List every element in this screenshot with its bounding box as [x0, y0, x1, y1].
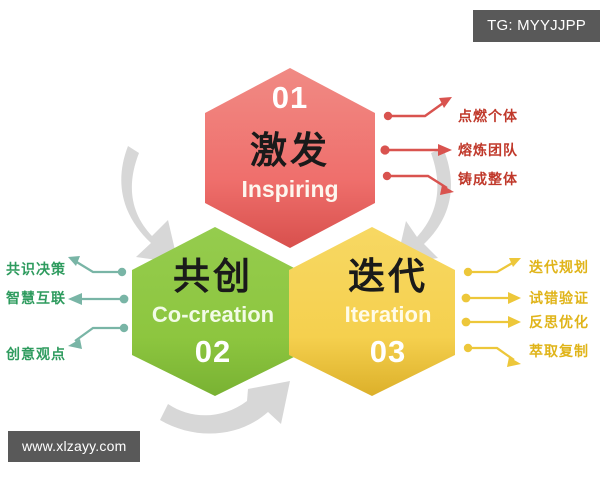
connector-green-2-dot — [120, 295, 129, 304]
connector-green-3 — [75, 328, 122, 341]
connector-yellow-2-arrowhead — [508, 292, 521, 304]
tg-watermark-badge: TG: MYYJJPP — [473, 10, 600, 42]
label-yellow-4: 萃取复制 — [529, 345, 589, 359]
label-red-2: 熔炼团队 — [458, 144, 518, 158]
connector-red-2-dot — [380, 145, 389, 154]
connector-yellow-1-dot — [464, 268, 472, 276]
connector-green-1-arrowhead — [68, 256, 80, 266]
infographic-canvas: 01 激发 Inspiring 共创 Co-creation 02 迭代 Ite… — [0, 0, 600, 480]
hexagon-inspiring[interactable] — [205, 68, 375, 248]
label-green-3: 创意观点 — [6, 348, 66, 362]
hexagon-inspiring-shape[interactable] — [205, 68, 375, 248]
label-red-3: 铸成整体 — [458, 173, 518, 187]
connector-green-3-dot — [120, 324, 128, 332]
label-red-1: 点燃个体 — [458, 110, 518, 124]
cycle-arrow-left — [121, 146, 178, 263]
connector-group-green — [68, 256, 128, 349]
connector-yellow-4-dot — [464, 344, 472, 352]
label-yellow-2: 试错验证 — [529, 292, 589, 306]
connector-yellow-1-arrowhead — [509, 258, 521, 267]
connector-yellow-4 — [470, 348, 514, 360]
label-yellow-1: 迭代规划 — [529, 261, 589, 275]
connector-red-1-arrowhead — [439, 97, 452, 108]
connector-yellow-2-dot — [462, 294, 471, 303]
connector-yellow-3-dot — [462, 318, 471, 327]
connector-green-2-arrowhead — [68, 293, 82, 305]
connector-yellow-3-arrowhead — [508, 316, 521, 328]
connector-yellow-1 — [470, 262, 514, 272]
label-green-1: 共识决策 — [6, 263, 66, 277]
label-green-2: 智慧互联 — [6, 292, 66, 306]
connector-red-3-dot — [383, 172, 391, 180]
connector-green-1-dot — [118, 268, 126, 276]
connector-group-yellow — [462, 258, 521, 367]
connector-red-1-dot — [384, 112, 392, 120]
infographic-artwork — [0, 0, 600, 480]
connector-green-1 — [75, 261, 120, 272]
label-yellow-3: 反思优化 — [529, 316, 589, 330]
site-watermark-badge: www.xlzayy.com — [8, 431, 140, 462]
connector-red-1 — [390, 101, 446, 116]
connector-yellow-4-arrowhead — [507, 357, 521, 367]
